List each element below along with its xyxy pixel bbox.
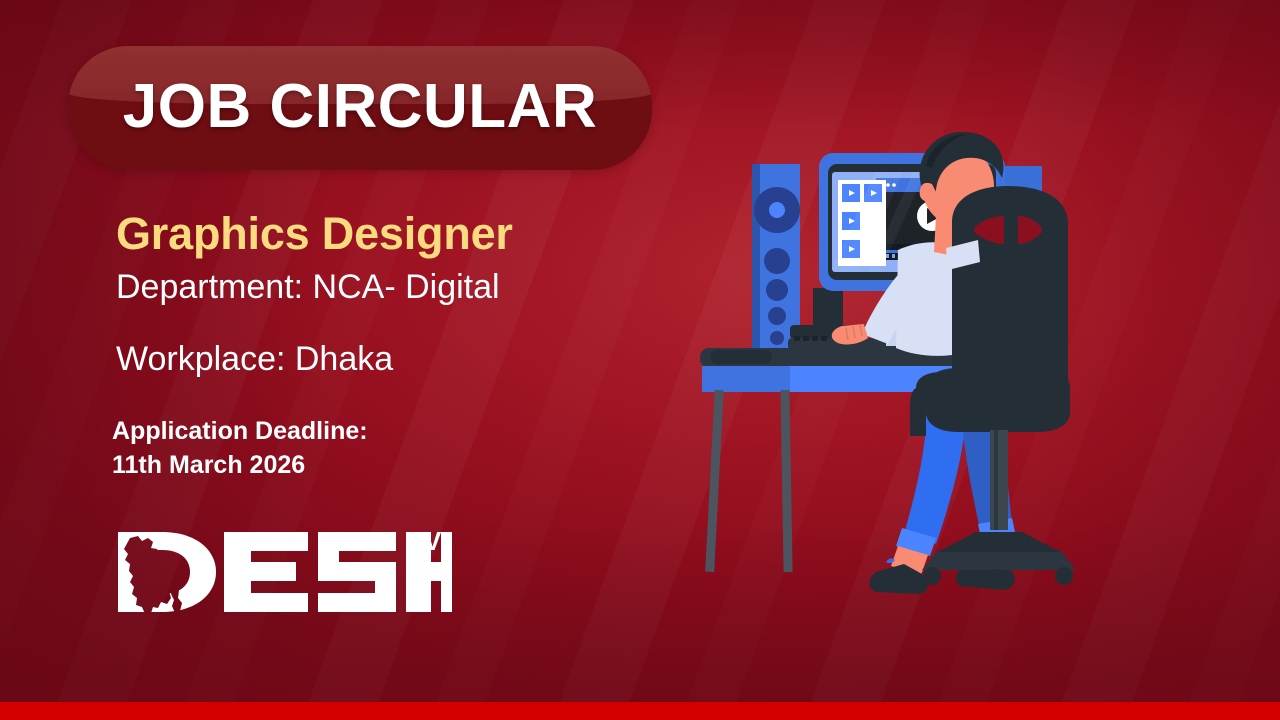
logo-tv-text: TV — [408, 526, 442, 556]
title-banner-text: JOB CIRCULAR — [68, 46, 652, 170]
chair-caster — [923, 567, 941, 585]
logo-superscript-tv: TV — [408, 526, 442, 556]
deadline-label: Application Deadline: — [112, 414, 368, 448]
workplace-line: Workplace: Dhaka — [116, 340, 393, 379]
logo-letter-s — [318, 532, 396, 612]
content-column: JOB CIRCULAR Graphics Designer Departmen… — [0, 0, 700, 720]
logo-letter-e — [224, 532, 308, 612]
chair-cylinder — [990, 430, 1008, 530]
chair-caster — [1055, 567, 1073, 585]
bottom-accent-strip — [0, 702, 1280, 720]
chair-caster — [987, 569, 1005, 587]
application-deadline: Application Deadline: 11th March 2026 — [112, 414, 368, 482]
desh-tv-logo: TV — [112, 524, 452, 620]
chair-base — [922, 550, 1076, 570]
department-line: Department: NCA- Digital — [116, 268, 500, 307]
thumbnail-item — [842, 184, 860, 202]
title-banner: JOB CIRCULAR — [68, 46, 652, 170]
logo-letter-d-with-map-icon — [112, 524, 232, 620]
designer-at-desk-illustration — [690, 120, 1210, 620]
job-title: Graphics Designer — [116, 208, 513, 260]
deadline-date: 11th March 2026 — [112, 448, 368, 482]
job-circular-poster: JOB CIRCULAR Graphics Designer Departmen… — [0, 0, 1280, 720]
